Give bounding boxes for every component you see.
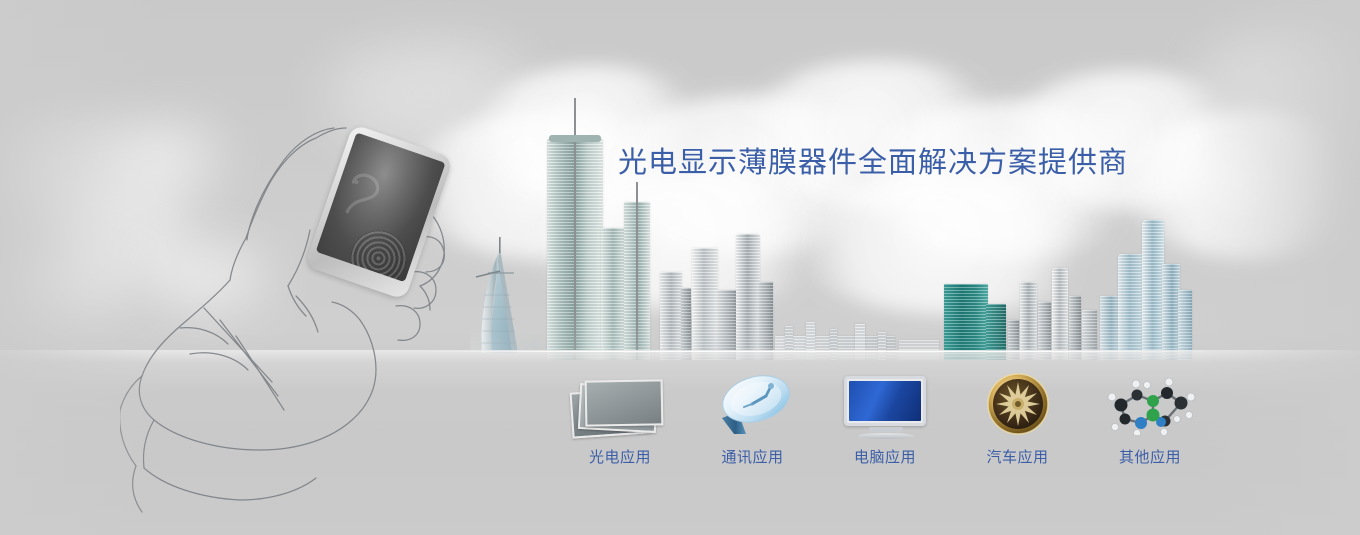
application-label: 光电应用 bbox=[589, 446, 651, 467]
building-reflection bbox=[547, 291, 603, 351]
building-reflection bbox=[660, 315, 773, 351]
application-label: 其他应用 bbox=[1119, 446, 1181, 467]
application-label: 通讯应用 bbox=[721, 446, 783, 467]
page-title: 光电显示薄膜器件全面解决方案提供商 bbox=[618, 139, 1128, 181]
film-sheet bbox=[585, 379, 664, 426]
screen-glyph-icon bbox=[339, 167, 392, 224]
screen-ripple-effect bbox=[343, 223, 414, 282]
satellite-dish-icon bbox=[698, 372, 808, 438]
building-reflection bbox=[1100, 307, 1192, 351]
tower-cap bbox=[549, 135, 601, 142]
application-item-computer[interactable]: 电脑应用 bbox=[825, 372, 945, 467]
application-item-optoelectronic[interactable]: 光电应用 bbox=[560, 372, 680, 467]
application-item-other[interactable]: 其他应用 bbox=[1090, 372, 1210, 467]
monitor-bezel bbox=[844, 376, 926, 426]
application-item-communication[interactable]: 通讯应用 bbox=[693, 372, 813, 467]
monitor-stand bbox=[869, 427, 903, 432]
building-reflection bbox=[601, 309, 650, 351]
glass-film-stack-icon bbox=[565, 372, 675, 438]
building-reflection bbox=[1008, 319, 1098, 351]
application-item-automotive[interactable]: 汽车应用 bbox=[958, 372, 1078, 467]
monitor-screen bbox=[849, 381, 921, 421]
hero-banner: 光电显示薄膜器件全面解决方案提供商 光电应用 bbox=[0, 0, 1360, 535]
building-reflection bbox=[944, 321, 1006, 351]
hand-holding-phone-illustration bbox=[120, 120, 500, 520]
computer-monitor-icon bbox=[830, 372, 940, 438]
molecule-model-icon bbox=[1095, 372, 1205, 438]
application-list: 光电应用 bbox=[560, 352, 1210, 467]
application-label: 汽车应用 bbox=[986, 446, 1048, 467]
application-label: 电脑应用 bbox=[854, 446, 916, 467]
monitor-base bbox=[858, 433, 914, 439]
alloy-wheel-icon bbox=[963, 372, 1073, 438]
